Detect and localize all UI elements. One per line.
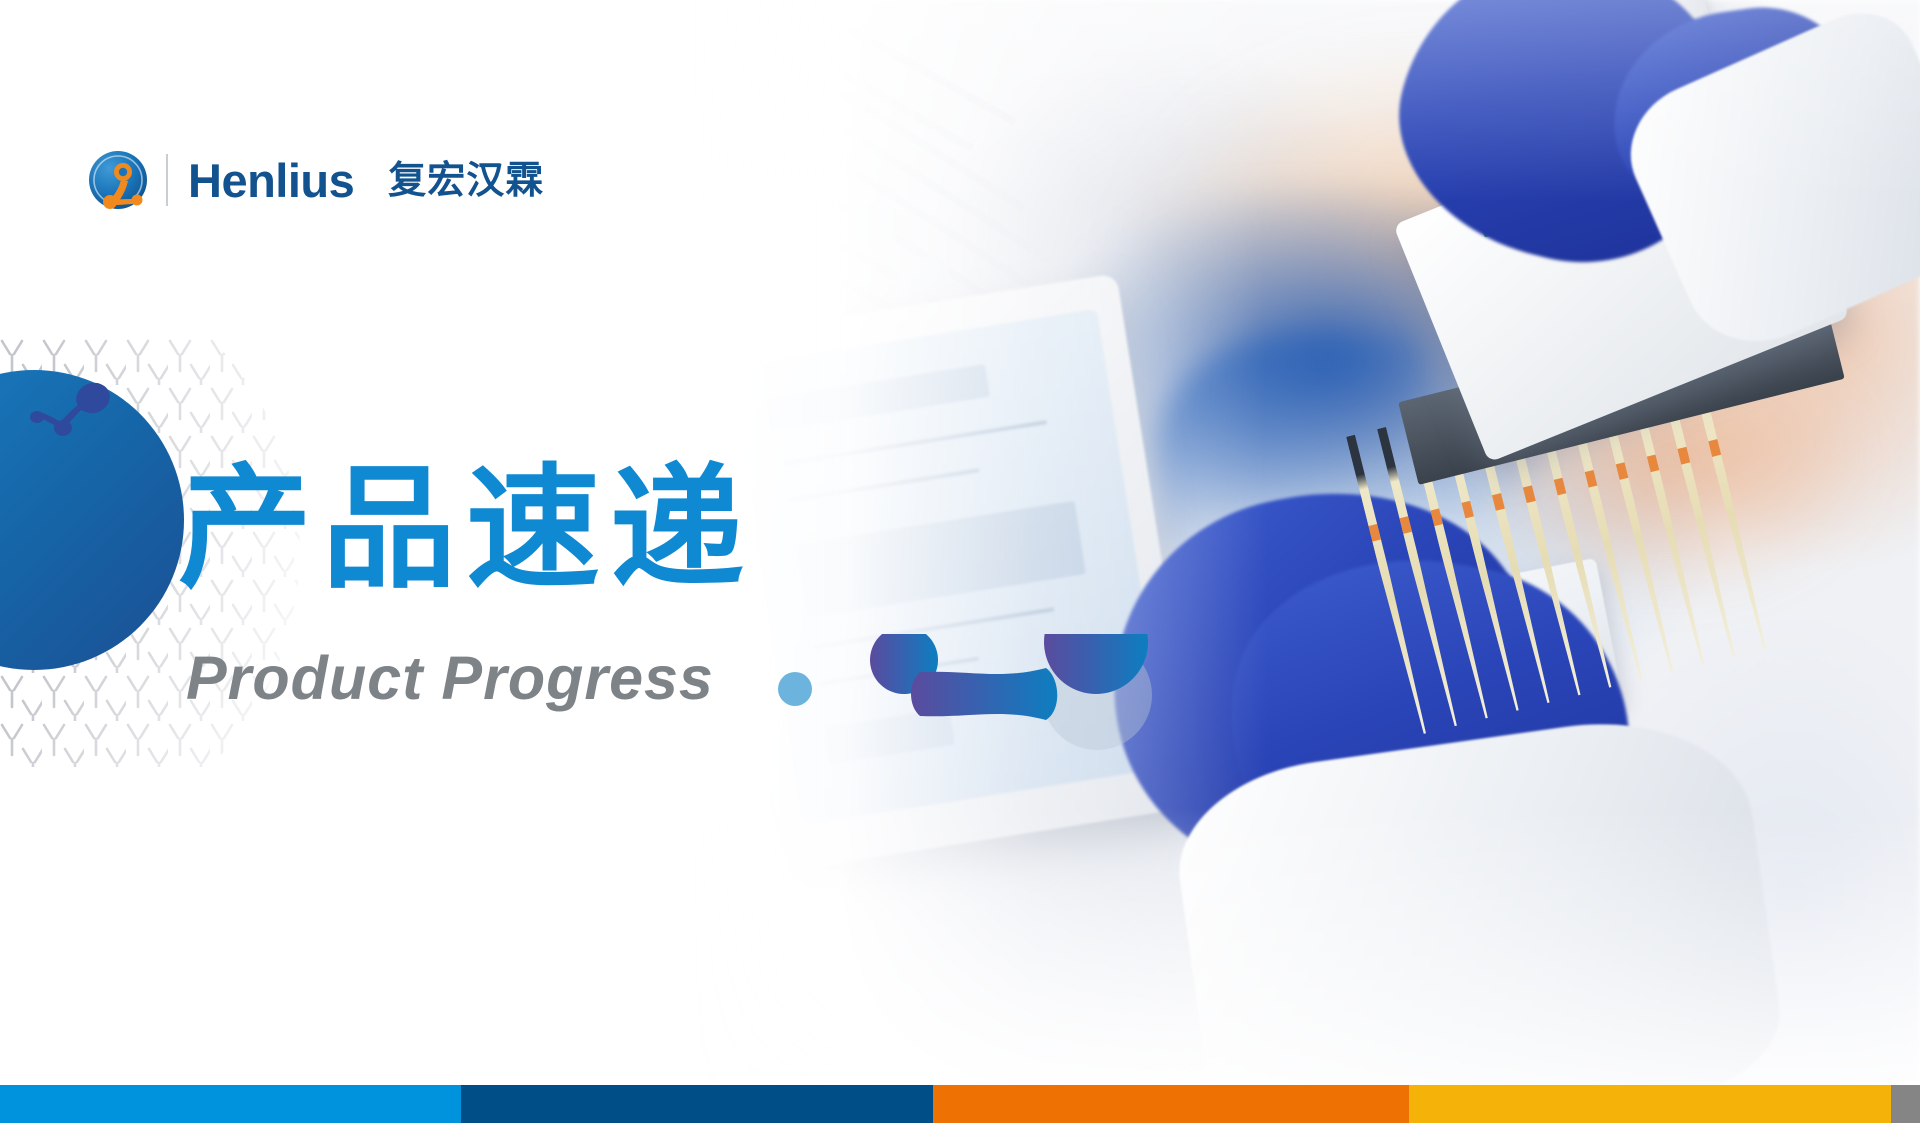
henlius-logo[interactable]: Henlius 复宏汉霖 xyxy=(88,148,544,212)
presentation-slide: Henlius 复宏汉霖 产品速递 Product Progress xyxy=(0,0,1920,1123)
henlius-logo-mark xyxy=(88,150,148,210)
segment-dark-blue xyxy=(461,1085,933,1123)
segment-grey-end xyxy=(1891,1085,1920,1123)
brand-color-bar xyxy=(0,1085,1920,1123)
light-blue-dot xyxy=(778,672,812,706)
molecule-accent-mark xyxy=(30,382,120,442)
logo-divider xyxy=(166,154,168,206)
logo-wordmark: Henlius xyxy=(188,157,354,204)
segment-orange xyxy=(933,1085,1409,1123)
molecule-metaball xyxy=(860,634,1180,754)
logo-chinese-name: 复宏汉霖 xyxy=(388,161,544,199)
page-title: 产品速递 xyxy=(178,462,754,596)
page-subtitle: Product Progress xyxy=(186,648,714,709)
segment-yellow xyxy=(1409,1085,1891,1123)
segment-light-blue xyxy=(0,1085,461,1123)
